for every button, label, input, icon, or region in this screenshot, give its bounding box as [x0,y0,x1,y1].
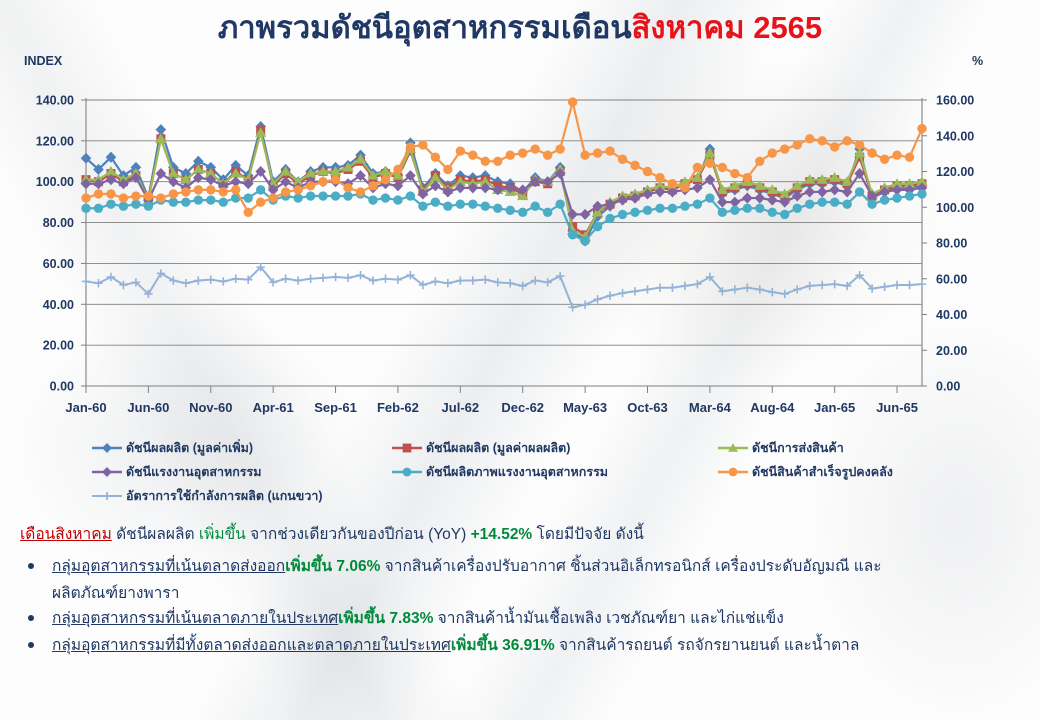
data-point-marker [256,198,264,206]
data-point-marker [531,202,539,210]
data-point-marker [681,184,689,192]
data-point-marker [768,149,776,157]
data-point-marker [743,173,751,181]
data-point-marker [157,194,165,202]
data-point-marker [456,200,464,208]
data-point-marker [905,192,913,200]
data-point-marker [556,272,564,280]
data-point-marker [531,145,539,153]
data-point-marker [394,275,402,283]
summary-text: จากช่วงเดียวกันของปีก่อน (YoY) [246,526,471,543]
y-axis-left-tick-label: 120.00 [36,134,74,148]
bullet-change-value: เพิ่มขึ้น 7.83% [338,610,433,627]
data-point-marker [918,190,926,198]
data-point-marker [219,198,227,206]
data-point-marker [232,275,240,283]
y-axis-right-tick-label: 0.00 [936,380,960,394]
data-point-marker [469,200,477,208]
legend-item[interactable]: ดัชนีผลผลิต (มูลค่าผลผลิต) [392,438,570,458]
data-point-marker [880,155,888,163]
data-point-marker [169,276,177,284]
legend-diamond-icon [92,465,122,479]
data-point-marker [806,135,814,143]
data-point-marker [818,198,826,206]
bullet-dot-icon [28,642,34,648]
data-point-marker [119,202,127,210]
x-axis-tick-label: Jul-62 [442,400,480,415]
data-point-marker [768,288,776,296]
data-point-marker [730,197,739,207]
legend-item[interactable]: ดัชนีการส่งสินค้า [718,438,844,458]
data-point-marker [755,193,764,203]
data-point-marker [830,198,838,206]
bullet-group-name: กลุ่มอุตสาหกรรมที่เน้นตลาดภายในประเทศ [52,610,338,627]
data-point-marker [718,197,727,207]
bullet-dot-icon [28,615,34,621]
y-axis-right-tick-label: 100.00 [936,201,974,215]
data-point-marker [568,98,576,106]
data-point-marker [381,175,389,183]
data-point-marker [830,185,839,195]
x-axis: Jan-60Jun-60Nov-60Apr-61Sep-61Feb-62Jul-… [65,386,922,415]
data-point-marker [593,149,601,157]
summary-yoy-value: +14.52% [471,526,533,543]
data-point-marker [331,175,339,183]
data-point-marker [806,282,814,290]
data-point-marker [830,280,838,288]
data-point-marker [144,192,152,200]
data-point-marker [369,196,377,204]
x-axis-tick-label: Nov-60 [189,400,232,415]
data-point-marker [593,295,601,303]
data-point-marker [182,279,190,287]
data-point-marker [207,196,215,204]
data-point-marker [344,192,352,200]
data-point-marker [319,274,327,282]
data-point-marker [294,194,302,202]
data-point-marker [506,279,514,287]
data-point-marker [281,188,289,196]
y-axis-left-tick-label: 40.00 [43,298,74,312]
legend-label: ดัชนีผลิตภาพแรงงานอุตสาหกรรม [426,462,608,482]
x-axis-tick-label: Jan-65 [814,400,855,415]
bullet-detail-text: จากสินค้าน้ำมันเชื้อเพลิง เวชภัณฑ์ยา และ… [433,610,783,627]
y-axis-right: 0.0020.0040.0060.0080.00100.00120.00140.… [922,94,974,394]
data-point-marker [219,188,227,196]
summary-direction-token: เพิ่มขึ้น [199,526,246,543]
data-point-marker [469,151,477,159]
data-point-marker [519,282,527,290]
data-point-marker [356,271,364,279]
legend-item[interactable]: ดัชนีสินค้าสำเร็จรูปคงคลัง [718,462,893,482]
y-axis-right-tick-label: 20.00 [936,344,967,358]
data-point-marker [519,208,527,216]
data-point-marker [643,285,651,293]
data-point-marker [918,280,926,288]
x-axis-tick-label: May-63 [563,400,607,415]
data-point-marker [119,194,127,202]
data-point-marker [643,206,651,214]
data-point-marker [731,169,739,177]
data-point-marker [207,186,215,194]
data-point-marker [868,200,876,208]
data-point-marker [244,194,252,202]
bullet-continuation-text: ผลิตภัณฑ์ยางพารา [20,581,1030,606]
chart-series [81,98,927,312]
data-point-marker [344,184,352,192]
data-point-marker [481,275,489,283]
data-point-marker [668,283,676,291]
legend-label: ดัชนีการส่งสินค้า [752,438,844,458]
data-point-marker [506,206,514,214]
data-point-marker [668,180,676,188]
bullet-group-name: กลุ่มอุตสาหกรรมที่มีทั้งตลาดส่งออกและตลา… [52,637,451,654]
legend-label: ดัชนีแรงงานอุตสาหกรรม [126,462,261,482]
x-axis-tick-label: Apr-61 [253,400,294,415]
data-point-marker [793,141,801,149]
data-point-marker [693,163,701,171]
data-point-marker [406,143,414,151]
data-point-marker [219,277,227,285]
x-axis-tick-label: Jun-65 [876,400,918,415]
data-point-marker [494,278,502,286]
data-point-marker [818,187,827,197]
data-point-marker [431,277,439,285]
data-point-marker [132,200,140,208]
data-point-marker [406,192,414,200]
data-point-marker [593,222,601,230]
data-point-marker [781,290,789,298]
legend-plus-icon [92,489,122,503]
y-axis-left: 0.0020.0040.0060.0080.00100.00120.00140.… [36,94,86,394]
data-point-marker [431,198,439,206]
data-point-marker [918,124,926,132]
data-point-marker [656,283,664,291]
data-point-marker [581,300,589,308]
data-point-marker [444,279,452,287]
legend-square-icon [392,441,422,455]
data-point-marker [331,192,339,200]
data-point-marker [656,173,664,181]
y-axis-left-tick-label: 140.00 [36,94,74,108]
data-point-marker [543,278,551,286]
data-point-marker [319,192,327,200]
data-point-marker [631,208,639,216]
data-point-marker [631,161,639,169]
x-axis-tick-label: Sep-61 [314,400,357,415]
data-point-marker [731,206,739,214]
data-point-marker [756,285,764,293]
left-axis-caption: INDEX [24,54,62,68]
y-axis-right-tick-label: 120.00 [936,165,974,179]
data-point-marker [756,204,764,212]
data-point-marker [643,167,651,175]
data-point-marker [893,194,901,202]
x-axis-tick-label: Dec-62 [501,400,544,415]
data-point-marker [706,194,714,202]
data-point-marker [581,237,589,245]
data-point-marker [581,151,589,159]
data-point-marker [294,276,302,284]
data-point-marker [556,200,564,208]
summary-bullet: กลุ่มอุตสาหกรรมที่เน้นตลาดส่งออกเพิ่มขึ้… [20,554,1030,579]
summary-text: โดยมีปัจจัย ดังนี้ [532,526,644,543]
data-point-marker [718,208,726,216]
y-axis-right-tick-label: 60.00 [936,272,967,286]
data-point-marker [107,190,115,198]
legend-label: ดัชนีสินค้าสำเร็จรูปคงคลัง [752,462,893,482]
data-point-marker [306,192,314,200]
data-point-marker [82,194,90,202]
data-point-marker [169,190,177,198]
data-point-marker [194,276,202,284]
legend-item[interactable]: ดัชนีผลิตภาพแรงงานอุตสาหกรรม [392,462,608,482]
y-axis-right-tick-label: 80.00 [936,237,967,251]
bullet-dot-icon [28,563,34,569]
data-point-marker [568,231,576,239]
legend-label: ดัชนีผลผลิต (มูลค่าผลผลิต) [426,438,570,458]
data-point-marker [843,200,851,208]
data-point-marker [606,147,614,155]
data-point-marker [194,196,202,204]
data-point-marker [880,196,888,204]
data-point-marker [718,163,726,171]
data-point-marker [281,275,289,283]
data-point-marker [506,151,514,159]
data-point-marker [207,275,215,283]
data-point-marker [94,204,102,212]
x-axis-tick-label: Jan-60 [65,400,106,415]
y-axis-right-tick-label: 40.00 [936,308,967,322]
data-point-marker [681,282,689,290]
data-point-marker [631,287,639,295]
data-point-marker [144,202,152,210]
data-point-marker [369,182,377,190]
data-point-marker [469,276,477,284]
legend-item[interactable]: ดัชนีแรงงานอุตสาหกรรม [92,462,261,482]
data-point-marker [905,281,913,289]
data-point-marker [743,283,751,291]
data-point-marker [543,151,551,159]
data-point-marker [419,202,427,210]
data-point-marker [394,196,402,204]
data-point-marker [319,178,327,186]
summary-bullet: กลุ่มอุตสาหกรรมที่เน้นตลาดภายในประเทศเพิ… [20,606,1030,631]
data-point-marker [381,194,389,202]
data-point-marker [306,275,314,283]
data-point-marker [519,149,527,157]
data-point-marker [531,276,539,284]
data-point-marker [793,285,801,293]
data-point-marker [843,137,851,145]
data-point-marker [107,200,115,208]
data-point-marker [156,125,165,135]
data-point-marker [231,177,240,187]
data-point-marker [369,276,377,284]
data-point-marker [331,273,339,281]
data-point-marker [182,188,190,196]
data-point-marker [793,204,801,212]
data-point-marker [855,141,863,149]
data-point-marker [743,204,751,212]
chart-legend: ดัชนีผลผลิต (มูลค่าเพิ่ม) ดัชนีผลผลิต (ม… [0,438,1040,510]
data-point-marker [344,274,352,282]
data-point-marker [731,285,739,293]
data-point-marker [818,137,826,145]
data-point-marker [880,283,888,291]
legend-triangle-icon [718,441,748,455]
data-point-marker [893,281,901,289]
y-axis-left-tick-label: 80.00 [43,216,74,230]
summary-lead-line: เดือนสิงหาคม ดัชนีผลผลิต เพิ่มขึ้น จากช่… [20,524,1030,546]
legend-label: ดัชนีผลผลิต (มูลค่าเพิ่ม) [126,438,253,458]
data-point-marker [269,194,277,202]
legend-label: อัตราการใช้กำลังการผลิต (แกนขวา) [126,486,323,506]
data-point-marker [618,155,626,163]
data-point-marker [693,200,701,208]
data-point-marker [194,186,202,194]
legend-circle-icon [392,465,422,479]
data-point-marker [356,188,364,196]
industrial-index-line-chart: 0.0020.0040.0060.0080.00100.00120.00140.… [0,88,1040,418]
data-point-marker [556,145,564,153]
x-axis-tick-label: Jun-60 [127,400,169,415]
x-axis-tick-label: Aug-64 [750,400,795,415]
data-point-marker [830,143,838,151]
data-point-marker [606,214,614,222]
data-point-marker [494,204,502,212]
data-point-marker [456,276,464,284]
summary-bullet: กลุ่มอุตสาหกรรมที่มีทั้งตลาดส่งออกและตลา… [20,633,1030,658]
data-point-marker [82,204,90,212]
data-point-marker [132,192,140,200]
legend-circle-icon [718,465,748,479]
data-point-marker [394,165,402,173]
data-point-marker [781,210,789,218]
right-axis-caption: % [972,54,983,68]
data-point-marker [381,275,389,283]
data-point-marker [606,292,614,300]
data-point-marker [806,200,814,208]
data-point-marker [893,151,901,159]
y-axis-right-tick-label: 160.00 [936,94,974,108]
data-point-marker [656,204,664,212]
data-point-marker [805,187,814,197]
data-point-marker [494,157,502,165]
bullet-change-value: เพิ่มขึ้น 7.06% [285,558,380,575]
data-point-marker [444,202,452,210]
data-point-marker [444,165,452,173]
data-point-marker [868,149,876,157]
page-title: ภาพรวมดัชนีอุตสาหกรรมเดือนสิงหาคม 2565 [0,10,1040,46]
y-axis-left-tick-label: 20.00 [43,339,74,353]
data-point-marker [855,188,863,196]
page-title-main: ภาพรวมดัชนีอุตสาหกรรมเดือน [218,10,632,45]
page-title-highlight: สิงหาคม 2565 [632,10,823,45]
data-point-marker [182,198,190,206]
x-axis-tick-label: Mar-64 [689,400,732,415]
data-point-marker [481,157,489,165]
bullet-change-value: เพิ่มขึ้น 36.91% [451,637,555,654]
y-axis-left-tick-label: 60.00 [43,257,74,271]
data-point-marker [818,281,826,289]
data-point-marker [768,195,777,205]
data-point-marker [232,186,240,194]
data-point-marker [82,277,90,285]
data-point-marker [618,289,626,297]
data-point-marker [543,208,551,216]
legend-item[interactable]: ดัชนีผลผลิต (มูลค่าเพิ่ม) [92,438,253,458]
summary-bullet-list: กลุ่มอุตสาหกรรมที่เน้นตลาดส่งออกเพิ่มขึ้… [20,554,1030,658]
x-axis-tick-label: Feb-62 [377,400,419,415]
data-point-marker [693,280,701,288]
data-point-marker [169,198,177,206]
data-point-marker [419,141,427,149]
data-point-marker [681,202,689,210]
data-point-marker [743,193,752,203]
data-point-marker [905,153,913,161]
data-point-marker [94,190,102,198]
data-point-marker [256,186,264,194]
y-axis-left-tick-label: 100.00 [36,175,74,189]
bullet-detail-text: จากสินค้าเครื่องปรับอากาศ ชิ้นส่วนอิเล็ก… [380,558,881,575]
chart-svg: 0.0020.0040.0060.0080.00100.00120.00140.… [0,88,1040,418]
summary-text: ดัชนีผลผลิต [112,526,199,543]
y-axis-right-tick-label: 140.00 [936,129,974,143]
data-point-marker [668,204,676,212]
legend-diamond-icon [92,441,122,455]
data-point-marker [431,153,439,161]
y-axis-left-tick-label: 0.00 [50,380,74,394]
summary-section: เดือนสิงหาคม ดัชนีผลผลิต เพิ่มขึ้น จากช่… [20,524,1030,660]
data-point-marker [294,186,302,194]
bullet-detail-text: จากสินค้ารถยนต์ รถจักรยานยนต์ และน้ำตาล [555,637,860,654]
legend-item[interactable]: อัตราการใช้กำลังการผลิต (แกนขวา) [92,486,323,506]
data-point-marker [781,145,789,153]
data-point-marker [618,210,626,218]
summary-month-token: เดือนสิงหาคม [20,526,112,543]
data-point-marker [706,159,714,167]
data-point-marker [94,279,102,287]
data-point-marker [306,182,314,190]
data-point-marker [481,202,489,210]
x-axis-tick-label: Oct-63 [627,400,667,415]
data-point-marker [768,208,776,216]
bullet-group-name: กลุ่มอุตสาหกรรมที่เน้นตลาดส่งออก [52,558,285,575]
data-point-marker [756,157,764,165]
data-point-marker [456,147,464,155]
data-point-marker [244,208,252,216]
